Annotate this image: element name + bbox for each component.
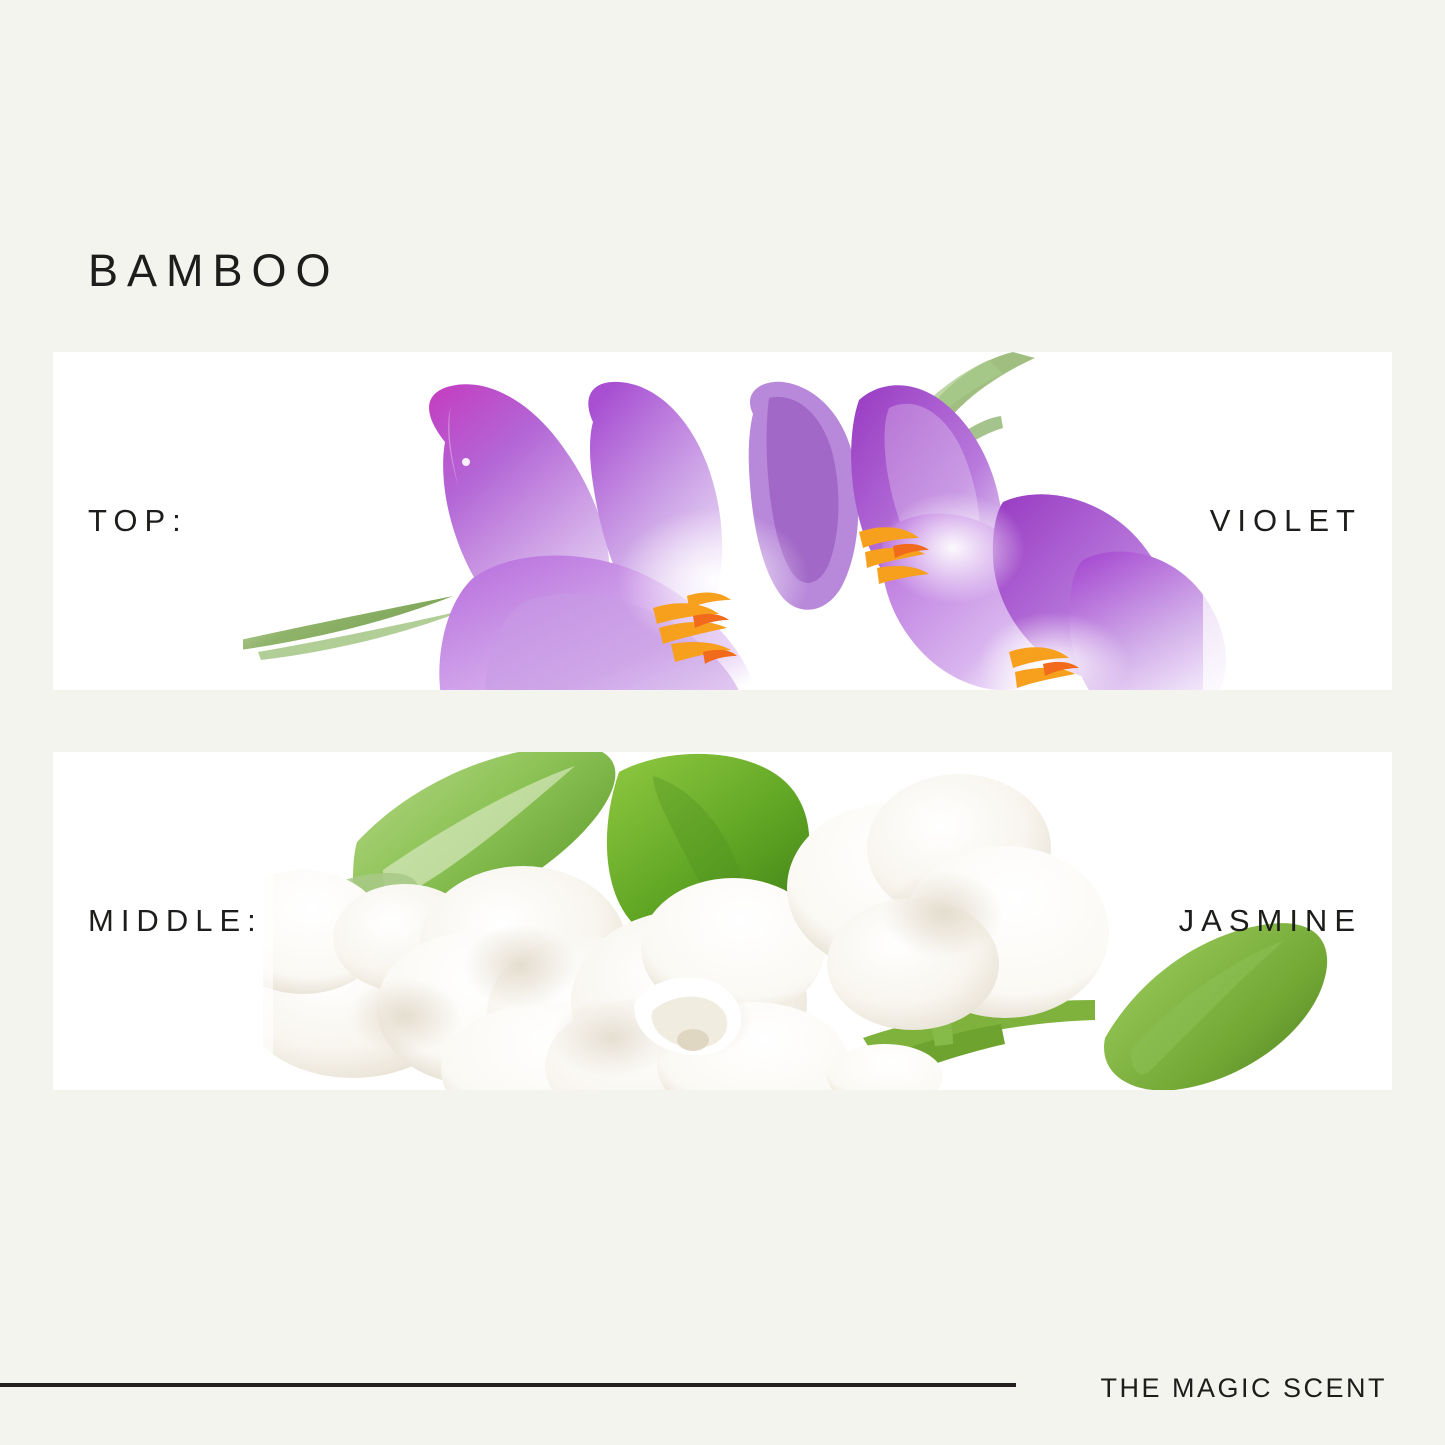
note-row-middle-value: JASMINE <box>1179 903 1362 939</box>
note-row-top-label: TOP: <box>88 503 188 539</box>
note-row-top: TOP: VIOLET <box>53 352 1392 690</box>
page-title: BAMBOO <box>88 248 340 293</box>
note-row-middle: MIDDLE: JASMINE <box>53 752 1392 1090</box>
note-row-middle-label: MIDDLE: <box>88 903 263 939</box>
footer-brand-name: THE MAGIC SCENT <box>1100 1373 1387 1404</box>
violet-crocus-flowers-photo <box>53 352 1392 690</box>
note-row-top-value: VIOLET <box>1210 503 1362 539</box>
footer-divider <box>0 1383 1016 1387</box>
